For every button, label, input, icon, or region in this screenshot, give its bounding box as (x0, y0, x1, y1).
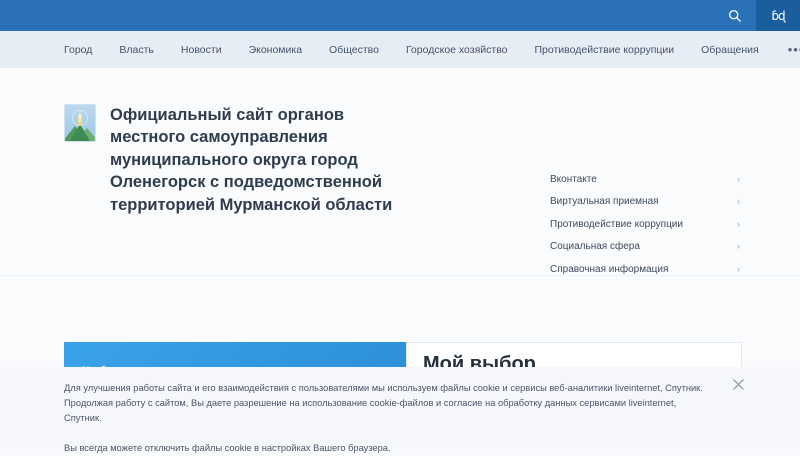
quick-link-label: Справочная информация (550, 263, 668, 277)
quick-link-protivodeystvie-korrupcii[interactable]: Противодействие коррупции › (550, 213, 740, 236)
nav-more-button[interactable]: ••• (788, 47, 800, 53)
glasses-glyph: ɓɖ (771, 10, 784, 22)
chevron-right-icon: › (737, 242, 740, 251)
page-title: Официальный сайт органов местного самоуп… (110, 104, 410, 275)
nav-item-obrasheniya[interactable]: Обращения (701, 44, 759, 56)
quick-link-label: Вконтакте (550, 173, 597, 187)
nav-item-protivodeystvie-korrupcii[interactable]: Противодействие коррупции (535, 44, 675, 56)
hero-section: Официальный сайт органов местного самоуп… (0, 68, 800, 275)
nav-item-obshestvo[interactable]: Общество (329, 44, 379, 56)
top-bar: ɓɖ (0, 0, 800, 31)
cookie-notice: Для улучшения работы сайта и его взаимод… (0, 367, 800, 449)
hero-heading-block: Официальный сайт органов местного самоуп… (64, 104, 464, 275)
nav-item-gorod[interactable]: Город (64, 44, 92, 56)
glasses-icon[interactable]: ɓɖ (756, 0, 800, 31)
quick-link-label: Социальная сфера (550, 240, 640, 254)
nav-item-gorodskoe-hozyaystvo[interactable]: Городское хозяйство (406, 44, 508, 56)
chevron-right-icon: › (737, 175, 740, 184)
quick-link-virtualnaya-priemnaya[interactable]: Виртуальная приемная › (550, 191, 740, 214)
nav-item-ekonomika[interactable]: Экономика (249, 44, 302, 56)
chevron-right-icon: › (737, 220, 740, 229)
cookie-notice-paragraph-1: Для улучшения работы сайта и его взаимод… (64, 381, 714, 426)
nav-item-vlast[interactable]: Власть (119, 44, 154, 56)
quick-link-socialnaya-sfera[interactable]: Социальная сфера › (550, 236, 740, 259)
quick-link-label: Виртуальная приемная (550, 195, 659, 209)
quick-link-vkontakte[interactable]: Вконтакте › (550, 168, 740, 191)
nav-item-novosti[interactable]: Новости (181, 44, 222, 56)
cookie-close-icon[interactable] (730, 376, 746, 392)
chevron-right-icon: › (737, 197, 740, 206)
search-icon[interactable] (713, 0, 756, 31)
quick-link-label: Противодействие коррупции (550, 218, 683, 232)
main-navigation: Город Власть Новости Экономика Общество … (0, 31, 800, 68)
coat-of-arms-icon (64, 104, 96, 142)
chevron-right-icon: › (737, 265, 740, 274)
